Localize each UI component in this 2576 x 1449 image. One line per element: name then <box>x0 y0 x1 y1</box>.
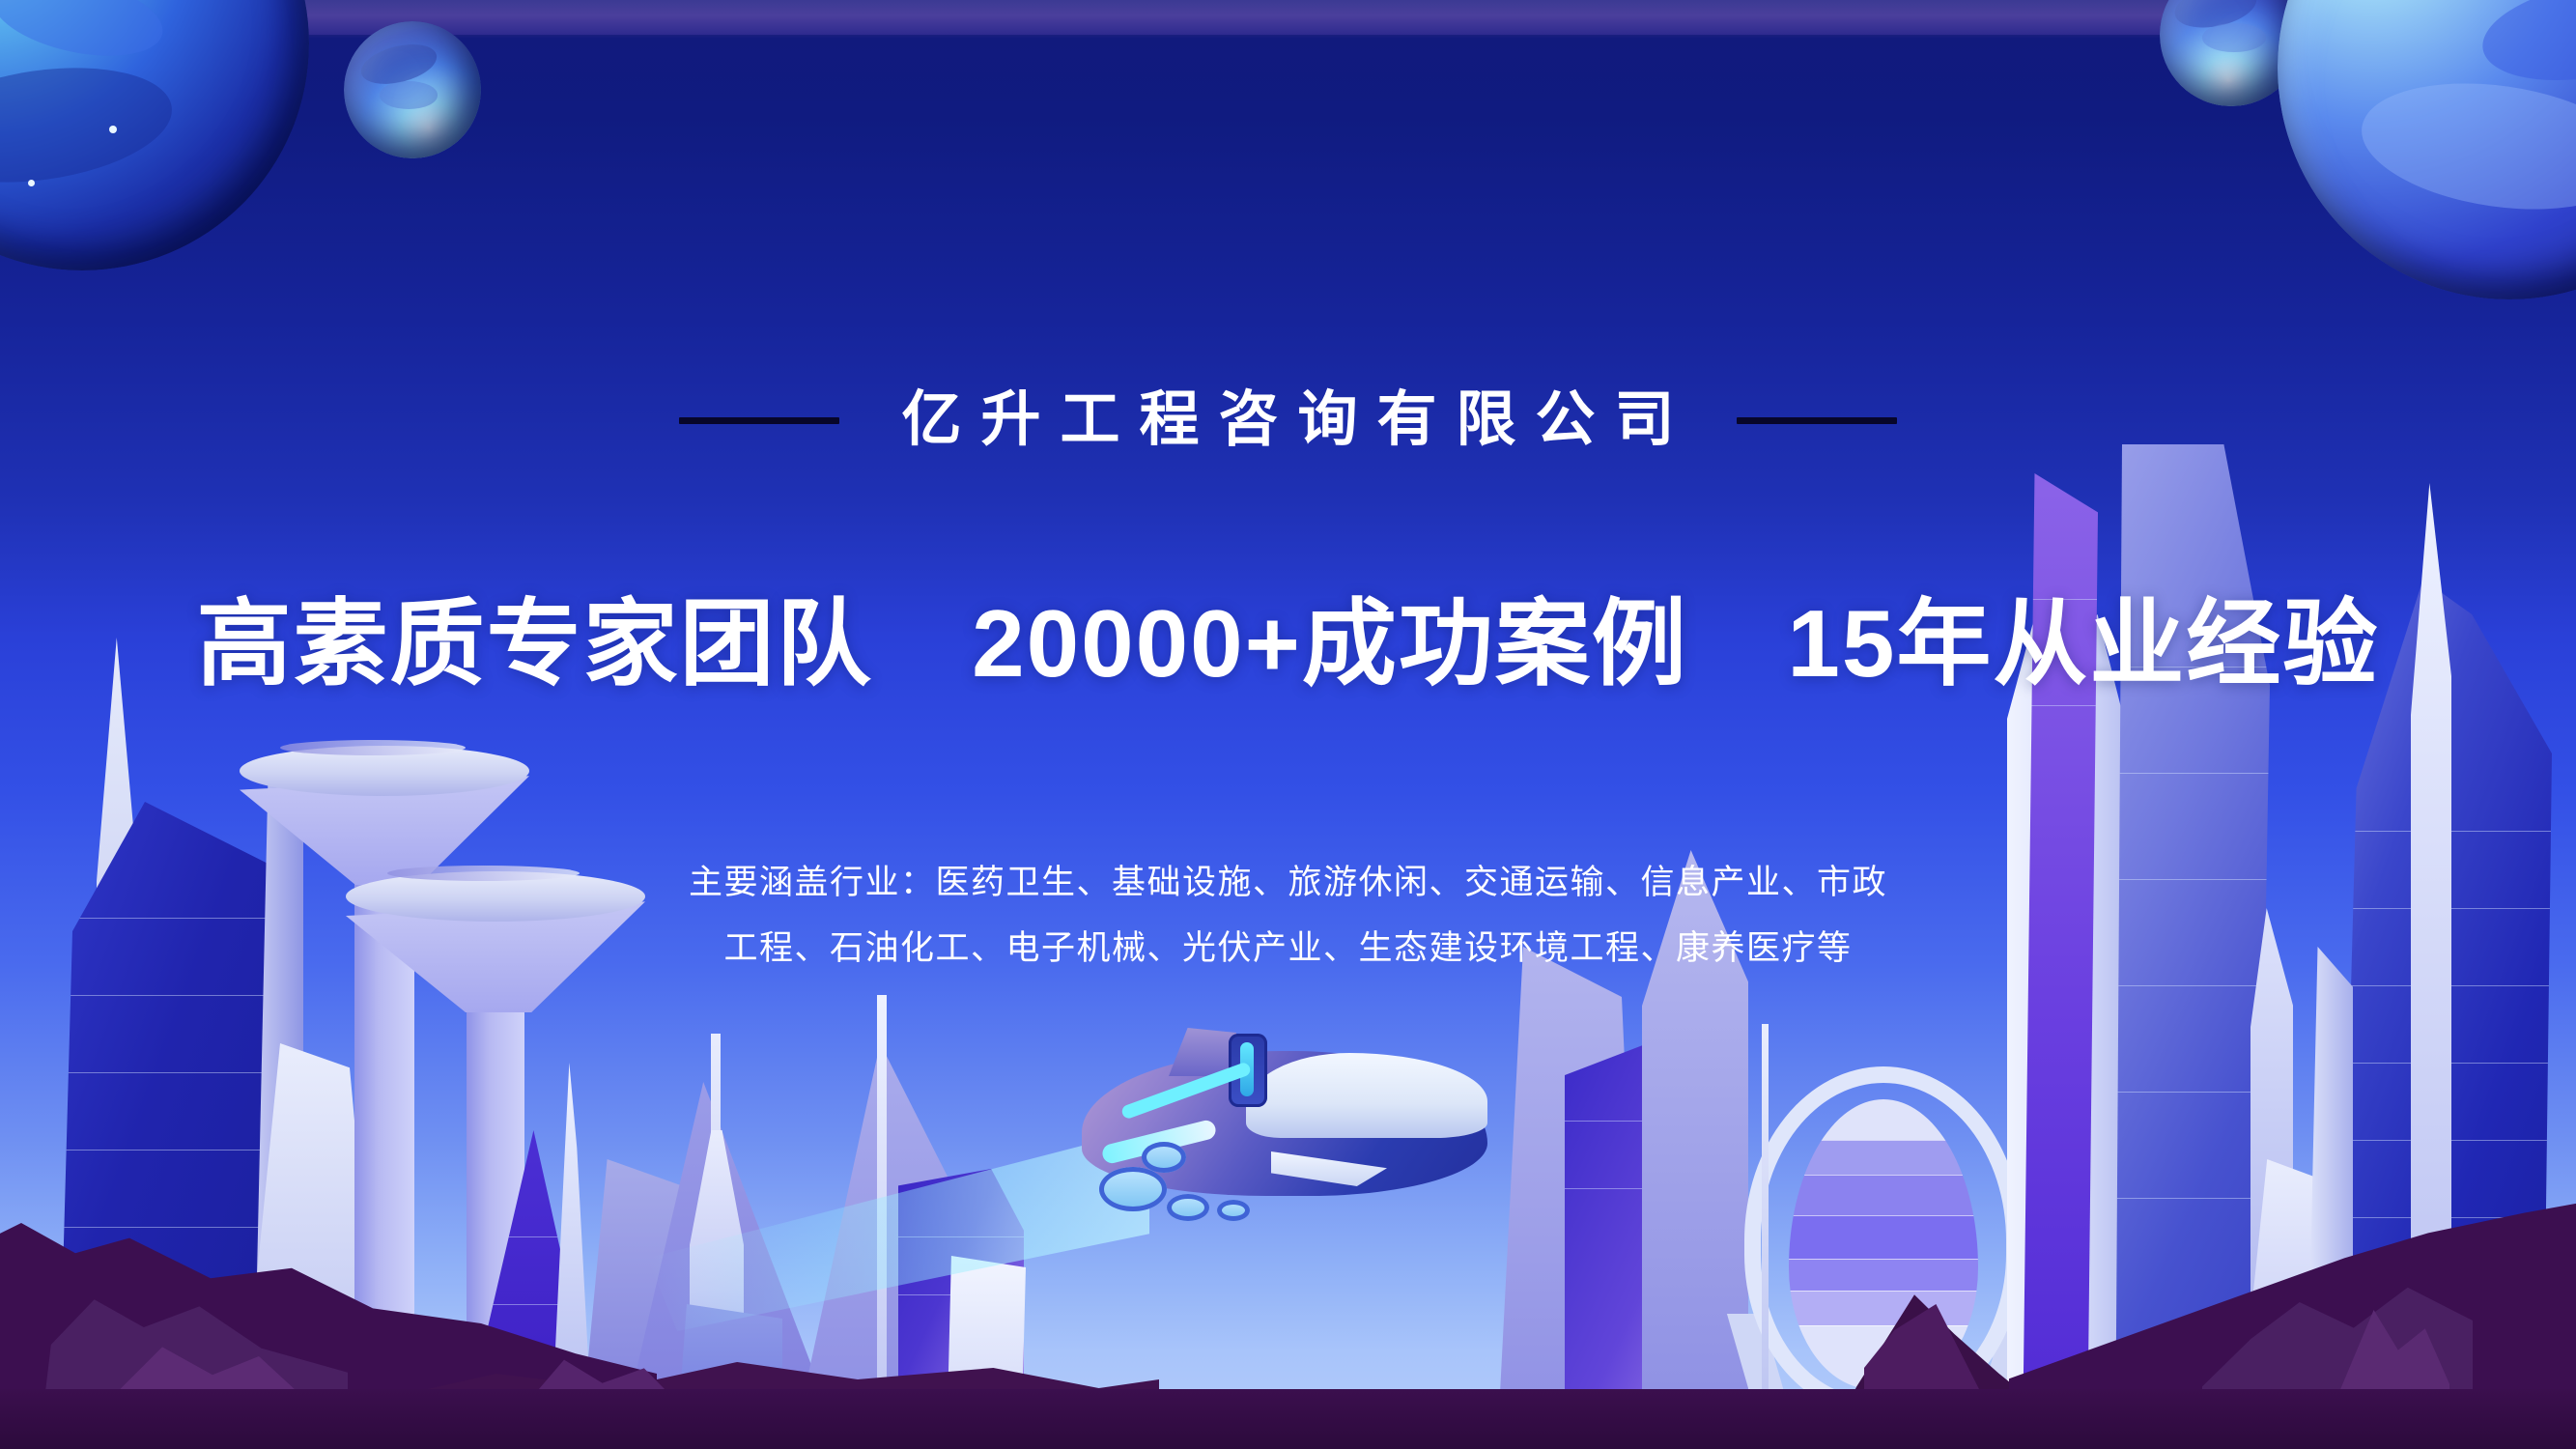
brand-rule-left-icon <box>679 417 839 424</box>
headline-part-experience: 15年从业经验 <box>1787 590 2379 696</box>
text-content: 亿升工程咨询有限公司 高素质专家团队 20000+成功案例 15年从业经验 主要… <box>0 0 2576 1449</box>
headline: 高素质专家团队 20000+成功案例 15年从业经验 <box>0 591 2576 697</box>
brand-row: 亿升工程咨询有限公司 <box>0 390 2576 450</box>
subtitle-line-1: 主要涵盖行业：医药卫生、基础设施、旅游休闲、交通运输、信息产业、市政 <box>535 850 2042 916</box>
headline-part-cases: 20000+成功案例 <box>972 590 1688 696</box>
brand-rule-right-icon <box>1737 417 1897 424</box>
subtitle-block: 主要涵盖行业：医药卫生、基础设施、旅游休闲、交通运输、信息产业、市政 工程、石油… <box>535 850 2042 982</box>
company-name: 亿升工程咨询有限公司 <box>882 390 1693 450</box>
banner-root: 亿升工程咨询有限公司 高素质专家团队 20000+成功案例 15年从业经验 主要… <box>0 0 2576 1449</box>
subtitle-line-2: 工程、石油化工、电子机械、光伏产业、生态建设环境工程、康养医疗等 <box>535 916 2042 981</box>
headline-part-team: 高素质专家团队 <box>197 590 873 696</box>
